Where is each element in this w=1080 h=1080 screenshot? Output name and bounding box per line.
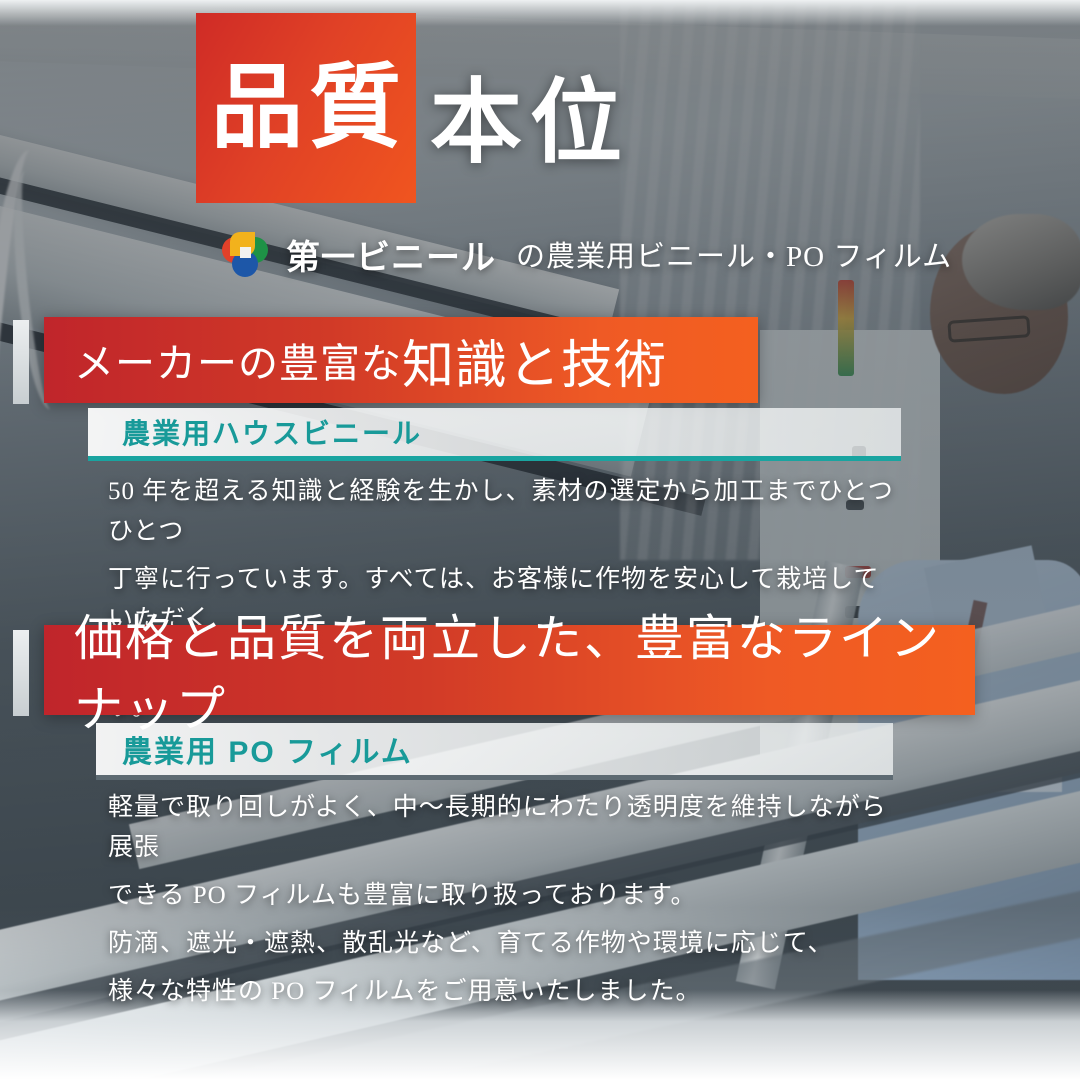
page-title: 品質 本位: [196, 13, 630, 203]
section-1-subheading-bar: 農業用ハウスビニール: [88, 408, 901, 461]
section-2-subheading: 農業用 PO フィルム: [122, 727, 413, 771]
section-2-body: 軽量で取り回しがよく、中〜長期的にわたり透明度を維持しながら展張 できる PO …: [108, 788, 898, 1020]
title-rest-text: 本位: [430, 77, 630, 169]
body-line: できる PO フィルムも豊富に取り扱っております。: [108, 876, 898, 916]
body-line: 様々な特性の PO フィルムをご用意いたしました。: [108, 972, 898, 1012]
four-petal-pinwheel-logo-icon: [218, 228, 272, 280]
brand-line: 第一ビニール の農業用ビニール・PO フィルム: [218, 228, 952, 280]
section-1-heading-emphasis: 知識と技術: [402, 323, 667, 398]
brand-name: 第一ビニール: [286, 230, 496, 279]
section-1-subheading: 農業用ハウスビニール: [122, 412, 422, 452]
section-1-heading-band: メーカーの豊富な 知識と技術: [44, 317, 758, 403]
section-2-subheading-bar: 農業用 PO フィルム: [96, 723, 893, 780]
poster-canvas: 品質 本位 第一ビニール の農業用ビニール・PO フィルム メーカーの豊富な 知…: [0, 0, 1080, 1080]
body-line: 軽量で取り回しがよく、中〜長期的にわたり透明度を維持しながら展張: [108, 788, 898, 868]
title-highlight-box: 品質: [196, 13, 416, 203]
section-tick-marker: [13, 320, 29, 404]
section-2-heading: 価格と品質を両立した、豊富なラインナップ: [74, 599, 975, 741]
section-2-heading-band: 価格と品質を両立した、豊富なラインナップ: [44, 625, 975, 715]
section-tick-marker: [13, 630, 29, 716]
brand-tagline: の農業用ビニール・PO フィルム: [516, 233, 952, 275]
body-line: 防滴、遮光・遮熱、散乱光など、育てる作物や環境に応じて、: [108, 924, 898, 964]
section-1-heading-lead: メーカーの豊富な: [74, 331, 402, 389]
body-line: 50 年を超える知識と経験を生かし、素材の選定から加工までひとつひとつ: [108, 472, 898, 552]
title-highlight-text: 品質: [205, 62, 407, 154]
